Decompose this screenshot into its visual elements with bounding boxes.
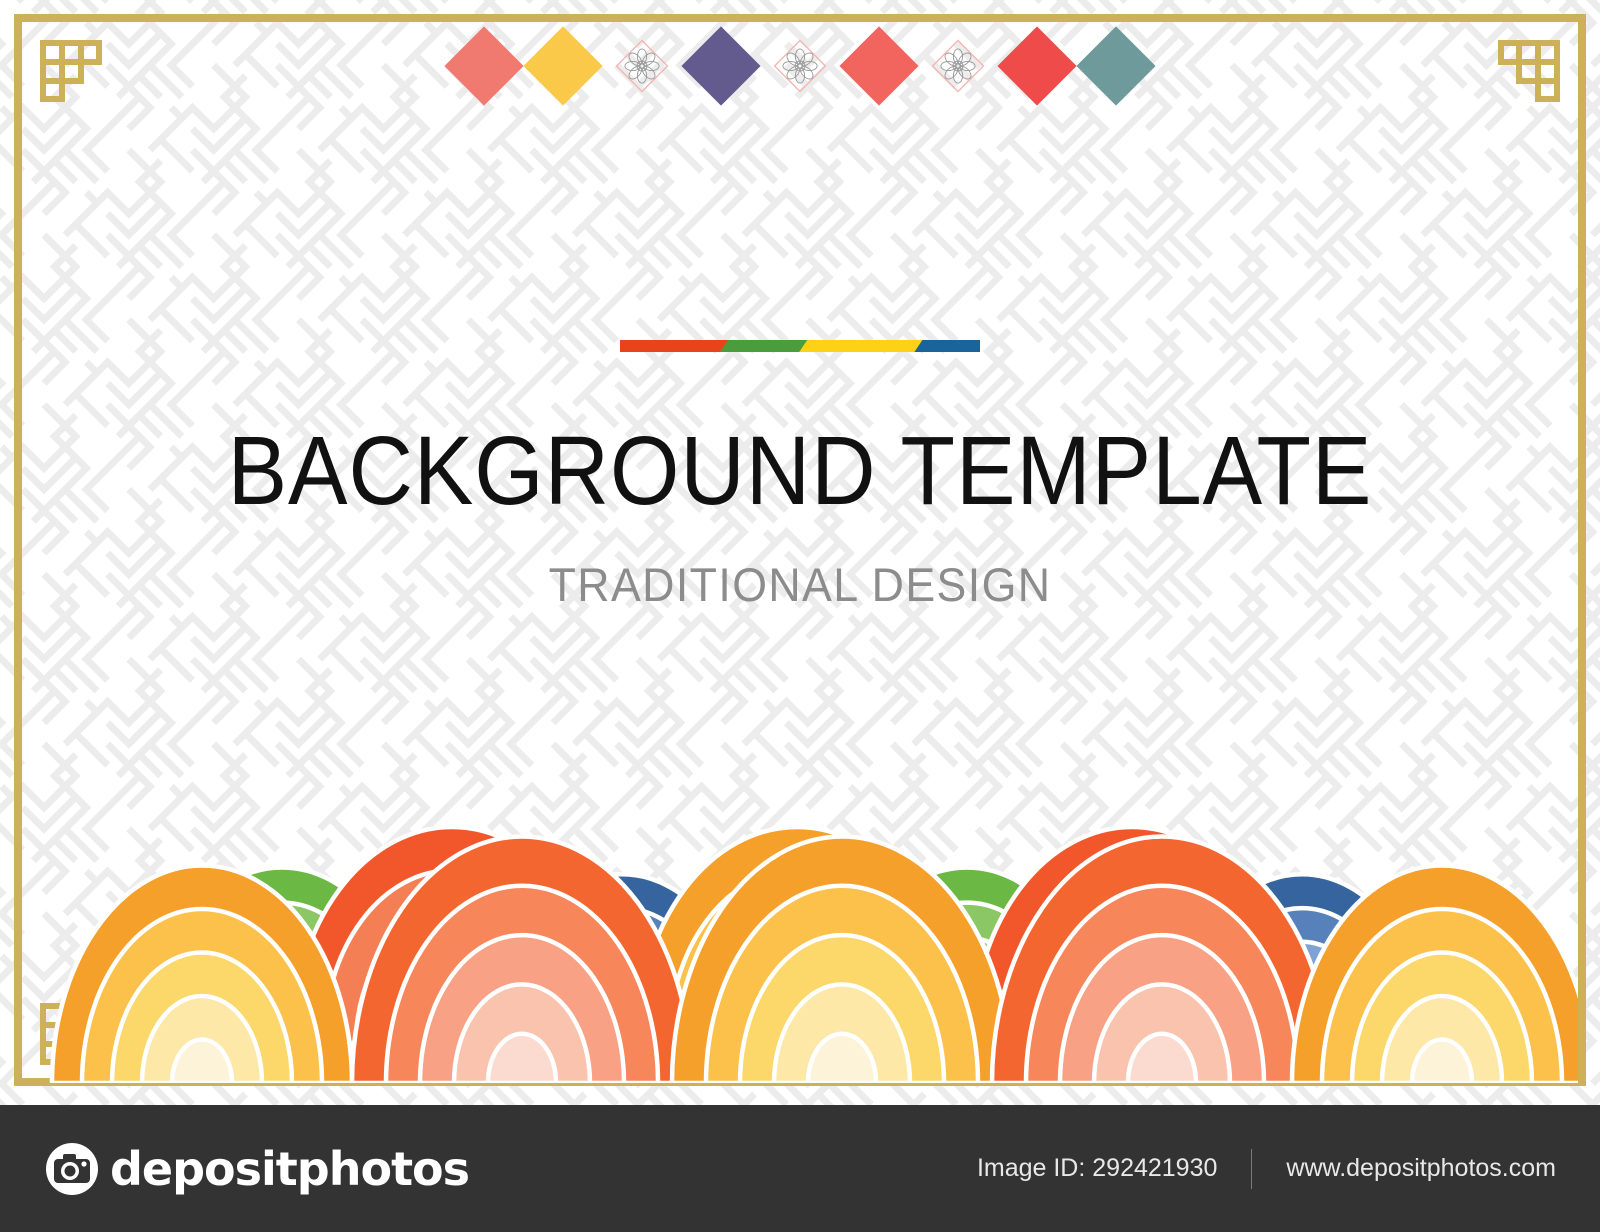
diamond-ornament-row [0, 18, 1600, 114]
page-title: BACKGROUND TEMPLATE [64, 422, 1536, 519]
segment-blue [914, 340, 980, 352]
camera-icon [44, 1141, 100, 1197]
watermark-divider [1251, 1149, 1252, 1189]
segment-yellow [799, 340, 930, 352]
diamond-teal [1076, 26, 1155, 105]
diamond-purple [681, 26, 760, 105]
diamond-salmon-1 [444, 26, 523, 105]
diamond-salmon-2 [839, 26, 918, 105]
multicolor-accent-bar [620, 340, 980, 352]
depositphotos-logo-text: depositphotos [110, 1142, 469, 1196]
depositphotos-watermark-bar: depositphotos Image ID: 292421930 www.de… [0, 1105, 1600, 1232]
screenshot-root: BACKGROUND TEMPLATE TRADITIONAL DESIGN d… [0, 0, 1600, 1232]
diamond-yellow [523, 26, 602, 105]
website-label: www.depositphotos.com [1286, 1154, 1556, 1183]
diamond-flower-3 [930, 38, 986, 94]
title-block: BACKGROUND TEMPLATE TRADITIONAL DESIGN [0, 340, 1600, 612]
diamond-flower-1 [614, 38, 670, 94]
depositphotos-logo: depositphotos [44, 1141, 469, 1197]
page-subtitle: TRADITIONAL DESIGN [40, 557, 1560, 612]
diamond-red [997, 26, 1076, 105]
image-id-label: Image ID: 292421930 [977, 1154, 1217, 1183]
diamond-flower-2 [772, 38, 828, 94]
traditional-fan-arc-decoration [22, 823, 1578, 1083]
watermark-meta: Image ID: 292421930 www.depositphotos.co… [977, 1149, 1556, 1189]
segment-red [620, 340, 736, 352]
artwork-canvas: BACKGROUND TEMPLATE TRADITIONAL DESIGN [0, 0, 1600, 1105]
